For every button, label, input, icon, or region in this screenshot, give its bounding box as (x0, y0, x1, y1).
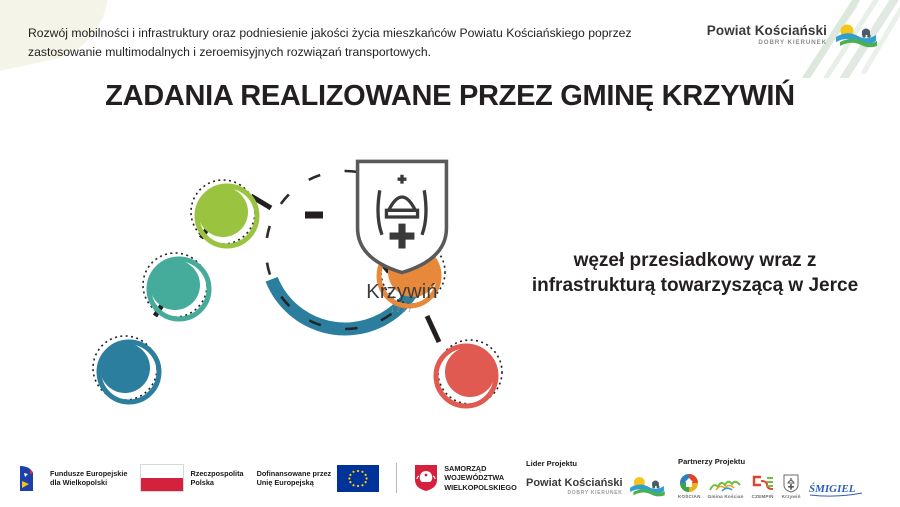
logo-label: Dofinansowane przez Unię Europejską (257, 469, 332, 488)
logo-dofinansowane-ue: Dofinansowane przez Unię Europejską (257, 465, 380, 492)
project-caption: węzeł przesiadkowy wraz z infrastrukturą… (530, 248, 860, 298)
wielkopolska-shield-icon (414, 464, 438, 492)
diagram-container: Krzywiń 1237 (55, 120, 555, 410)
slide-root: Rozwój mobilności i infrastruktury oraz … (0, 0, 900, 507)
logo-samorzad-wielkopolski: SAMORZĄD WOJEWÓDZTWA WIELKOPOLSKIEGO (414, 464, 517, 492)
partner-label: KOŚCIAN (678, 494, 701, 499)
brand-name: Powiat Kościański (707, 24, 827, 38)
powiat-logo-icon (628, 475, 666, 497)
brand-tagline: DOBRY KIERUNEK (758, 40, 827, 46)
brand-text: Powiat Kościański DOBRY KIERUNEK (707, 24, 827, 46)
smigiel-logo-icon: ŚMIGIEL (808, 481, 864, 499)
footer: Fundusze Europejskie dla Wielkopolski Rz… (0, 445, 900, 507)
eu-flag-icon (337, 465, 379, 492)
brand-powiat-koscianski: Powiat Kościański DOBRY KIERUNEK (707, 22, 878, 48)
partner-label: CZEMPIŃ (752, 494, 774, 499)
logo-label: Fundusze Europejskie dla Wielkopolski (50, 469, 127, 488)
gmina-koscian-logo-icon (708, 477, 744, 493)
diagram-svg (55, 120, 555, 410)
partner-label: Krzywiń (782, 494, 801, 499)
czempin-logo-icon (751, 475, 775, 493)
lider-tagline: DOBRY KIERUNEK (568, 490, 623, 496)
diagram-node-blue (93, 336, 159, 402)
powiat-logo-icon (834, 22, 878, 48)
partner-czempin: CZEMPIŃ (751, 475, 775, 499)
partner-logos-row: KOŚCIAN Gmina Kościan (678, 473, 864, 499)
partner-koscian: KOŚCIAN (678, 473, 701, 499)
partnerzy-projektu-block: Partnerzy Projektu KOŚCIAN (678, 457, 864, 499)
partner-gmina-koscian: Gmina Kościan (708, 477, 744, 499)
partner-smigiel: ŚMIGIEL (808, 481, 864, 499)
lider-name: Powiat Kościański (526, 477, 623, 489)
lider-logo: Powiat Kościański DOBRY KIERUNEK (526, 475, 666, 497)
poland-flag-icon (140, 464, 184, 492)
koscian-logo-icon (679, 473, 699, 493)
smigiel-wordmark: ŚMIGIEL (809, 483, 856, 495)
krzywin-shield-icon (783, 474, 799, 493)
logo-rzeczpospolita-polska: Rzeczpospolita Polska (140, 464, 243, 492)
lider-heading: Lider Projektu (526, 459, 666, 468)
lider-projektu-block: Lider Projektu Powiat Kościański DOBRY K… (526, 459, 666, 497)
diagram-node-teal (143, 253, 209, 319)
partner-krzywin: Krzywiń (782, 474, 801, 499)
logo-label: SAMORZĄD WOJEWÓDZTWA WIELKOPOLSKIEGO (444, 464, 517, 492)
diagram-node-red (436, 340, 502, 406)
footer-divider (396, 463, 397, 493)
partnerzy-heading: Partnerzy Projektu (678, 457, 864, 466)
logo-fundusze-europejskie: Fundusze Europejskie dla Wielkopolski (18, 464, 127, 492)
page-title: ZADANIA REALIZOWANE PRZEZ GMINĘ KRZYWIŃ (0, 80, 900, 113)
header-description-block: Rozwój mobilności i infrastruktury oraz … (28, 24, 668, 62)
logo-label: Rzeczpospolita Polska (190, 469, 243, 488)
partner-label: Gmina Kościan (708, 494, 744, 499)
funding-logos-row: Fundusze Europejskie dla Wielkopolski Rz… (18, 463, 517, 493)
fundusze-europejskie-icon (18, 464, 44, 492)
header-description: Rozwój mobilności i infrastruktury oraz … (28, 24, 668, 62)
